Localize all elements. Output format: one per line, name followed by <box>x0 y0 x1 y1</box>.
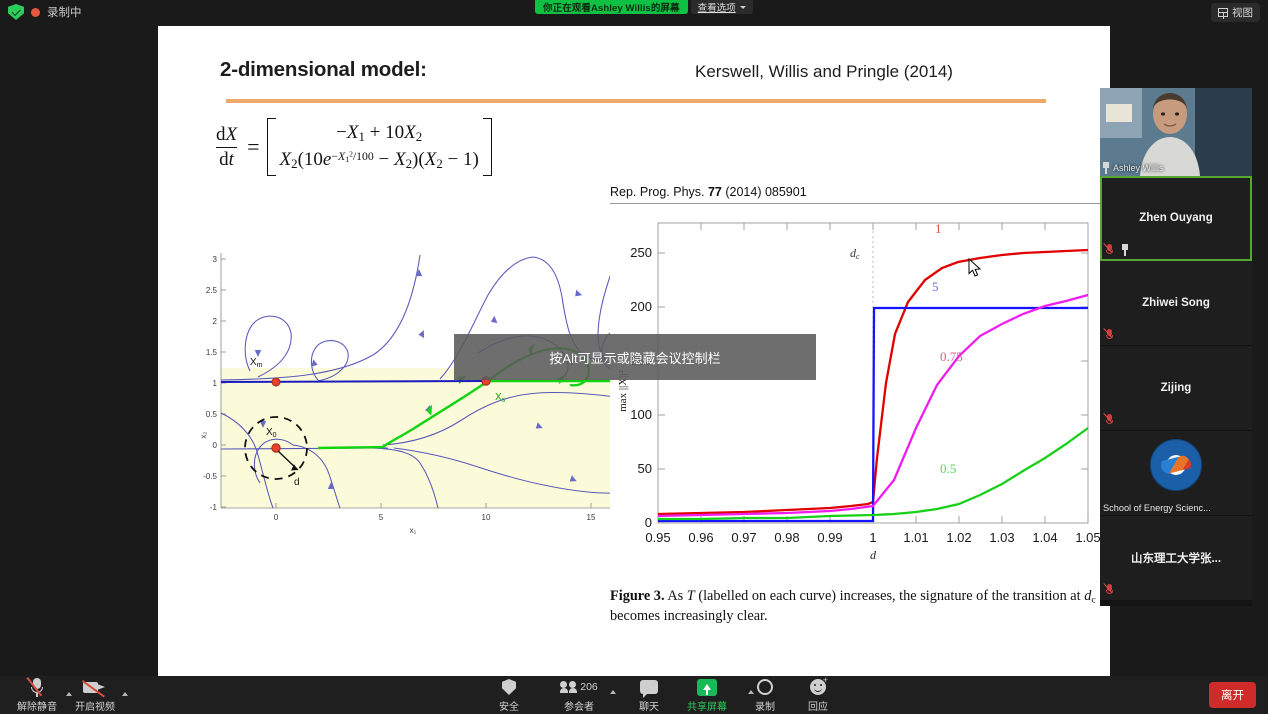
participant-tile-ashley-willis[interactable]: Ashley Willis <box>1100 88 1252 176</box>
svg-text:15: 15 <box>587 513 596 522</box>
zoom-meeting-window: 录制中 你正在观看Ashley Willis的屏幕 查看选项 视图 2-dime… <box>0 0 1268 714</box>
view-button[interactable]: 视图 <box>1211 3 1260 22</box>
mic-muted-icon <box>1105 244 1114 256</box>
participant-name: 山东理工大学张... <box>1100 550 1252 566</box>
svg-text:5: 5 <box>379 513 384 522</box>
alt-hint-tooltip: 按Alt可显示或隐藏会议控制栏 <box>454 334 816 380</box>
record-button[interactable]: 录制 <box>736 678 794 713</box>
journal-volume: 77 <box>708 185 722 199</box>
svg-text:1.02: 1.02 <box>946 530 971 545</box>
svg-text:0: 0 <box>645 515 652 530</box>
participant-name: Ashley Willis <box>1113 163 1164 173</box>
chevron-down-icon <box>740 6 746 9</box>
participant-badges <box>1105 414 1114 426</box>
svg-text:1: 1 <box>213 379 218 388</box>
matrix-rows: −X1 + 10X2 X2(10e−X12/100 − X2)(X2 − 1) <box>276 118 483 176</box>
paper-figure-panel: Rep. Prog. Phys. 77 (2014) 085901 <box>610 185 1110 645</box>
svg-text:0.99: 0.99 <box>817 530 842 545</box>
participant-name-overlay: Ashley Willis <box>1102 162 1164 174</box>
svg-text:1.05: 1.05 <box>1075 530 1100 545</box>
svg-text:200: 200 <box>630 299 652 314</box>
participants-count: 206 <box>580 681 598 693</box>
svg-text:10: 10 <box>482 513 491 522</box>
share-label: 共享屏幕 <box>687 698 727 713</box>
svg-text:-1: -1 <box>210 503 218 512</box>
avatar <box>1150 439 1202 491</box>
view-button-label: 视图 <box>1232 5 1253 20</box>
participant-badges <box>1105 584 1114 596</box>
matrix-row-2: X2(10e−X12/100 − X2)(X2 − 1) <box>280 149 479 172</box>
svg-text:2: 2 <box>213 317 218 326</box>
caption-text-2: (labelled on each curve) increases, the … <box>695 588 1084 604</box>
shield-icon <box>502 678 516 696</box>
participant-tile-zijing[interactable]: Zijing <box>1100 346 1252 431</box>
svg-text:1.01: 1.01 <box>903 530 928 545</box>
record-label: 录制 <box>755 698 775 713</box>
svg-text:0.95: 0.95 <box>645 530 670 545</box>
recording-label: 录制中 <box>47 4 82 20</box>
participant-badges <box>1105 244 1129 256</box>
shield-check-icon[interactable] <box>8 4 24 20</box>
figure-caption: Figure 3. As T (labelled on each curve) … <box>610 587 1102 626</box>
chart-xlabel: d <box>870 548 877 562</box>
share-banner-text: 你正在观看Ashley Willis的屏幕 <box>535 0 688 14</box>
fraction-denominator: dt <box>216 147 237 171</box>
caption-sub-c: c <box>1091 594 1095 605</box>
journal-issue: (2014) 085901 <box>722 185 807 199</box>
label-Xm: Xm <box>250 357 263 369</box>
participant-name: Zhen Ouyang <box>1100 212 1252 224</box>
reactions-icon: + <box>810 678 826 696</box>
grid-view-icon <box>1218 8 1228 17</box>
phase-portrait-figure: 32.52 1.510.5 0-0.5-1 05 1015 x₁ x₂ <box>198 245 648 535</box>
mic-muted-icon <box>1105 584 1114 596</box>
series-label-05: 0.5 <box>940 461 956 476</box>
derivative-fraction: dX dt <box>213 124 240 171</box>
svg-text:250: 250 <box>630 245 652 260</box>
video-label: 开启视频 <box>75 698 115 713</box>
equation-matrix: −X1 + 10X2 X2(10e−X12/100 − X2)(X2 − 1) <box>267 118 492 176</box>
matrix-row-1: −X1 + 10X2 <box>280 122 479 149</box>
chat-label: 聊天 <box>639 698 659 713</box>
meeting-toolbar: 解除静音 开启视频 安全 206 参会者 聊天 <box>0 676 1268 714</box>
figure-caption-label: Figure 3. <box>610 588 665 604</box>
phase-xlabel: x₁ <box>410 526 417 535</box>
record-icon <box>757 678 773 696</box>
slide-citation: Kerswell, Willis and Pringle (2014) <box>695 62 953 82</box>
participant-tile-zhiwei-song[interactable]: Zhiwei Song <box>1100 261 1252 346</box>
svg-text:50: 50 <box>638 461 652 476</box>
svg-text:0.96: 0.96 <box>688 530 713 545</box>
participant-tile-zhen-ouyang[interactable]: Zhen Ouyang <box>1100 176 1252 261</box>
participants-label: 参会者 <box>564 698 594 713</box>
leave-button[interactable]: 离开 <box>1209 682 1256 708</box>
view-options-label: 查看选项 <box>698 0 736 14</box>
share-screen-button[interactable]: 共享屏幕 <box>678 678 736 713</box>
view-options-button[interactable]: 查看选项 <box>691 0 753 14</box>
svg-text:-0.5: -0.5 <box>203 472 217 481</box>
model-equation: dX dt = −X1 + 10X2 X2(10e−X12/100 − X2)(… <box>213 118 492 176</box>
journal-name: Rep. Prog. Phys. <box>610 185 708 199</box>
series-label-1: 1 <box>935 221 942 236</box>
bracket-right-icon <box>483 118 492 176</box>
svg-text:1.03: 1.03 <box>989 530 1014 545</box>
participant-name: Zhiwei Song <box>1100 297 1252 309</box>
svg-text:3: 3 <box>213 255 218 264</box>
mouse-cursor-icon <box>968 258 982 278</box>
svg-text:0.98: 0.98 <box>774 530 799 545</box>
transition-line-chart: 250200150 100500 0.950.960.97 0.980.991 … <box>610 211 1102 581</box>
mic-muted-icon <box>1105 414 1114 426</box>
participant-tile-school-of-energy[interactable]: School of Energy Scienc... <box>1100 431 1252 516</box>
caption-italic-T: T <box>687 588 695 604</box>
mic-muted-icon <box>29 678 45 696</box>
reactions-button[interactable]: + 回应 <box>789 678 847 713</box>
caption-text-3: becomes increasingly clear. <box>610 608 768 624</box>
svg-text:1.5: 1.5 <box>206 348 218 357</box>
security-label: 安全 <box>499 698 519 713</box>
pin-icon <box>1102 162 1110 174</box>
phase-ylabel: x₂ <box>199 431 208 438</box>
participant-badges <box>1105 329 1114 341</box>
security-button[interactable]: 安全 <box>480 678 538 713</box>
participants-icon: 206 <box>560 678 598 696</box>
caption-text-1: As <box>665 588 687 604</box>
participant-name: Zijing <box>1100 382 1252 394</box>
chat-button[interactable]: 聊天 <box>620 678 678 713</box>
svg-text:1.04: 1.04 <box>1032 530 1057 545</box>
participant-name: School of Energy Scienc... <box>1103 503 1211 513</box>
label-d: d <box>294 477 300 488</box>
equals-sign: = <box>247 134 259 160</box>
screen-share-banner: 你正在观看Ashley Willis的屏幕 查看选项 <box>535 0 753 14</box>
series-label-5: 5 <box>932 279 939 294</box>
camera-off-icon <box>83 678 107 696</box>
svg-text:100: 100 <box>630 407 652 422</box>
record-dot-icon <box>31 8 40 17</box>
reactions-label: 回应 <box>808 698 828 713</box>
fraction-numerator: dX <box>213 124 240 147</box>
series-label-075: 0.75 <box>940 349 963 364</box>
participant-tile-sdut-zhang[interactable]: 山东理工大学张... <box>1100 516 1252 601</box>
participant-filmstrip: Ashley Willis Zhen Ouyang Zhiwei Song Zi… <box>1100 88 1252 606</box>
start-video-button[interactable]: 开启视频 <box>66 678 124 713</box>
mute-button[interactable]: 解除静音 <box>8 678 66 713</box>
pin-icon <box>1121 244 1129 256</box>
share-screen-icon <box>697 678 717 696</box>
chat-icon <box>640 678 658 696</box>
bracket-left-icon <box>267 118 276 176</box>
paper-journal-header: Rep. Prog. Phys. 77 (2014) 085901 <box>610 185 1108 204</box>
participants-button[interactable]: 206 参会者 <box>550 678 608 713</box>
video-options-chevron-icon[interactable] <box>122 692 128 696</box>
mic-muted-icon <box>1105 329 1114 341</box>
recording-indicator-group: 录制中 <box>8 4 82 20</box>
svg-text:0.5: 0.5 <box>206 410 218 419</box>
svg-text:0: 0 <box>274 513 279 522</box>
svg-text:0.97: 0.97 <box>731 530 756 545</box>
slide-title: 2-dimensional model: <box>220 58 427 82</box>
svg-text:1: 1 <box>869 530 876 545</box>
participants-chevron-icon[interactable] <box>610 690 616 694</box>
top-bar: 录制中 你正在观看Ashley Willis的屏幕 查看选项 视图 <box>0 0 1268 26</box>
svg-text:0: 0 <box>213 441 218 450</box>
svg-text:2.5: 2.5 <box>206 286 218 295</box>
mute-label: 解除静音 <box>17 698 57 713</box>
slide-divider <box>226 99 1046 103</box>
